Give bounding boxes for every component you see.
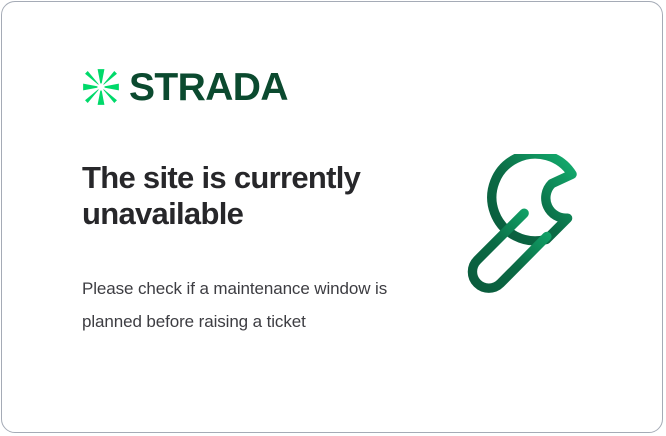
content-column: STRADA The site is currently unavailable…	[82, 64, 422, 110]
page-headline: The site is currently unavailable	[82, 160, 422, 232]
strada-starburst-icon	[82, 68, 120, 106]
page-body-text: Please check if a maintenance window is …	[82, 272, 392, 338]
wrench-icon	[457, 154, 615, 312]
brand-lockup: STRADA	[82, 64, 422, 110]
maintenance-page-card: STRADA The site is currently unavailable…	[1, 1, 663, 433]
brand-wordmark: STRADA	[129, 68, 288, 107]
